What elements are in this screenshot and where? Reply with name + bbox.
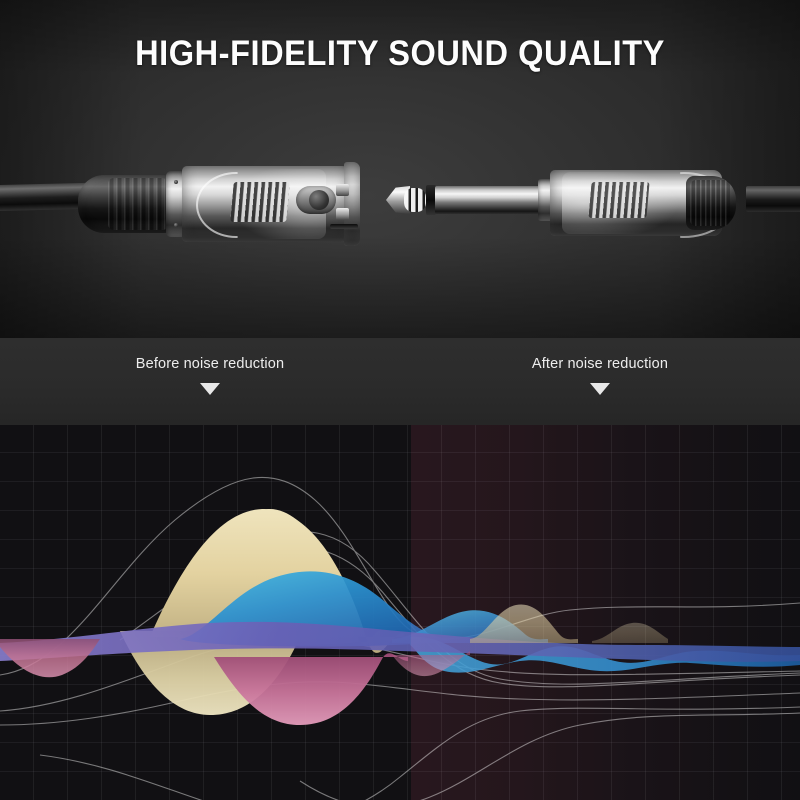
right-cable-lead: [746, 186, 800, 212]
cable-product-photo: [0, 150, 800, 270]
xlr-keyway-slot: [330, 224, 358, 229]
ts-plug-vent-ribs: [588, 182, 649, 218]
label-after-noise-reduction: After noise reduction: [532, 356, 668, 372]
xlr-pin-lower: [336, 208, 349, 220]
down-triangle-icon-after: [590, 383, 610, 395]
quarter-inch-ts-plug: [386, 166, 722, 240]
down-triangle-icon-before: [200, 383, 220, 395]
xlr-screw-bottom-icon: [174, 223, 178, 227]
xlr-screw-top-icon: [174, 180, 178, 184]
left-cable-lead: [0, 183, 88, 211]
hero-section: HIGH-FIDELITY SOUND QUALITY: [0, 0, 800, 338]
xlr-connector-head: [344, 162, 360, 246]
comparison-label-band: Before noise reduction After noise reduc…: [0, 338, 800, 425]
xlr-strain-relief-ribs: [108, 178, 168, 230]
waveform-comparison-panel: [0, 425, 800, 800]
ts-plug-tip-grooves: [404, 188, 426, 212]
wave-pink-main: [214, 653, 408, 725]
product-marketing-image: HIGH-FIDELITY SOUND QUALITY: [0, 0, 800, 800]
xlr-vent-ribs: [230, 182, 289, 222]
xlr-latch-dot: [309, 190, 329, 210]
xlr-female-connector: [78, 162, 360, 246]
wave-cream-ripple-2: [592, 623, 668, 643]
ts-plug-shaft: [435, 186, 541, 214]
waveform-graphic: [0, 425, 800, 800]
ts-plug-strain-relief-ribs: [690, 180, 730, 226]
page-title: HIGH-FIDELITY SOUND QUALITY: [28, 34, 772, 74]
xlr-pin-upper: [336, 184, 349, 196]
label-before-noise-reduction: Before noise reduction: [136, 356, 284, 372]
